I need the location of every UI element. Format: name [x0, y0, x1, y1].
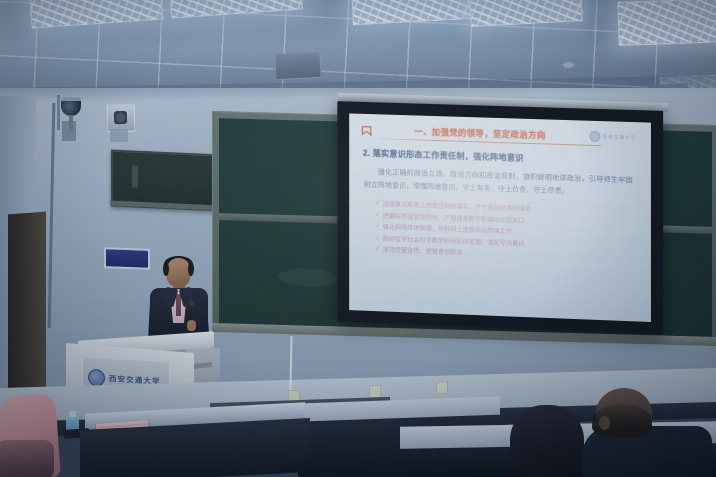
- check-mark-icon: ✓: [375, 222, 380, 234]
- audience-woman: [510, 405, 584, 477]
- slide-body-text: 强化正确的政治立场、政治方向和政治原则，旗帜鲜明地讲政治，引导师生牢固树立阵地意…: [364, 166, 633, 201]
- audience-man: [582, 388, 712, 477]
- coat-shadow: [0, 440, 54, 477]
- presenter-hair-side: [188, 262, 194, 276]
- slide-content: 一、加强党的领导，坚定政治方向 西安交通大学 2. 落实意识形态工作责任制，强化…: [349, 113, 651, 322]
- check-mark-icon: ✓: [375, 199, 380, 211]
- projected-slide: 一、加强党的领导，坚定政治方向 西安交通大学 2. 落实意识形态工作责任制，强化…: [349, 113, 651, 322]
- blue-wall-plaque: [104, 247, 150, 270]
- presenter-hand: [187, 320, 196, 331]
- audience-man-ear: [599, 416, 610, 430]
- slide-logo: 西安交通大学: [589, 131, 637, 144]
- lecture-hall-photo: 一、加强党的领导，坚定政治方向 西安交通大学 2. 落实意识形态工作责任制，强化…: [0, 0, 716, 477]
- check-mark-icon: ✓: [375, 210, 380, 222]
- slide-bullet-list: ✓ 加强意识形态工作责任制的落实，严守政治纪律和规矩 ✓ 把握好校园宣传阵地，严…: [375, 199, 639, 266]
- wall-socket: [369, 385, 381, 398]
- slide-logo-text: 西安交通大学: [602, 134, 637, 141]
- university-seal-icon: [589, 131, 600, 142]
- bookmark-icon: [361, 126, 374, 138]
- projection-screen: 一、加强党的领导，坚定政治方向 西安交通大学 2. 落实意识形态工作责任制，强化…: [337, 101, 663, 334]
- audience-woman-hair: [510, 405, 584, 477]
- check-mark-icon: ✓: [375, 233, 380, 245]
- speaker-mount: [110, 129, 128, 142]
- presenter-hair-side: [163, 262, 169, 276]
- wall-socket: [436, 381, 448, 394]
- university-seal-icon: [88, 368, 105, 386]
- speaker-icon: [107, 104, 135, 132]
- bullet-text: 坚持党管宣传、党管意识形态: [383, 245, 463, 259]
- check-mark-icon: ✓: [375, 245, 380, 257]
- left-doorway: [8, 212, 46, 415]
- security-camera-icon: [58, 97, 84, 119]
